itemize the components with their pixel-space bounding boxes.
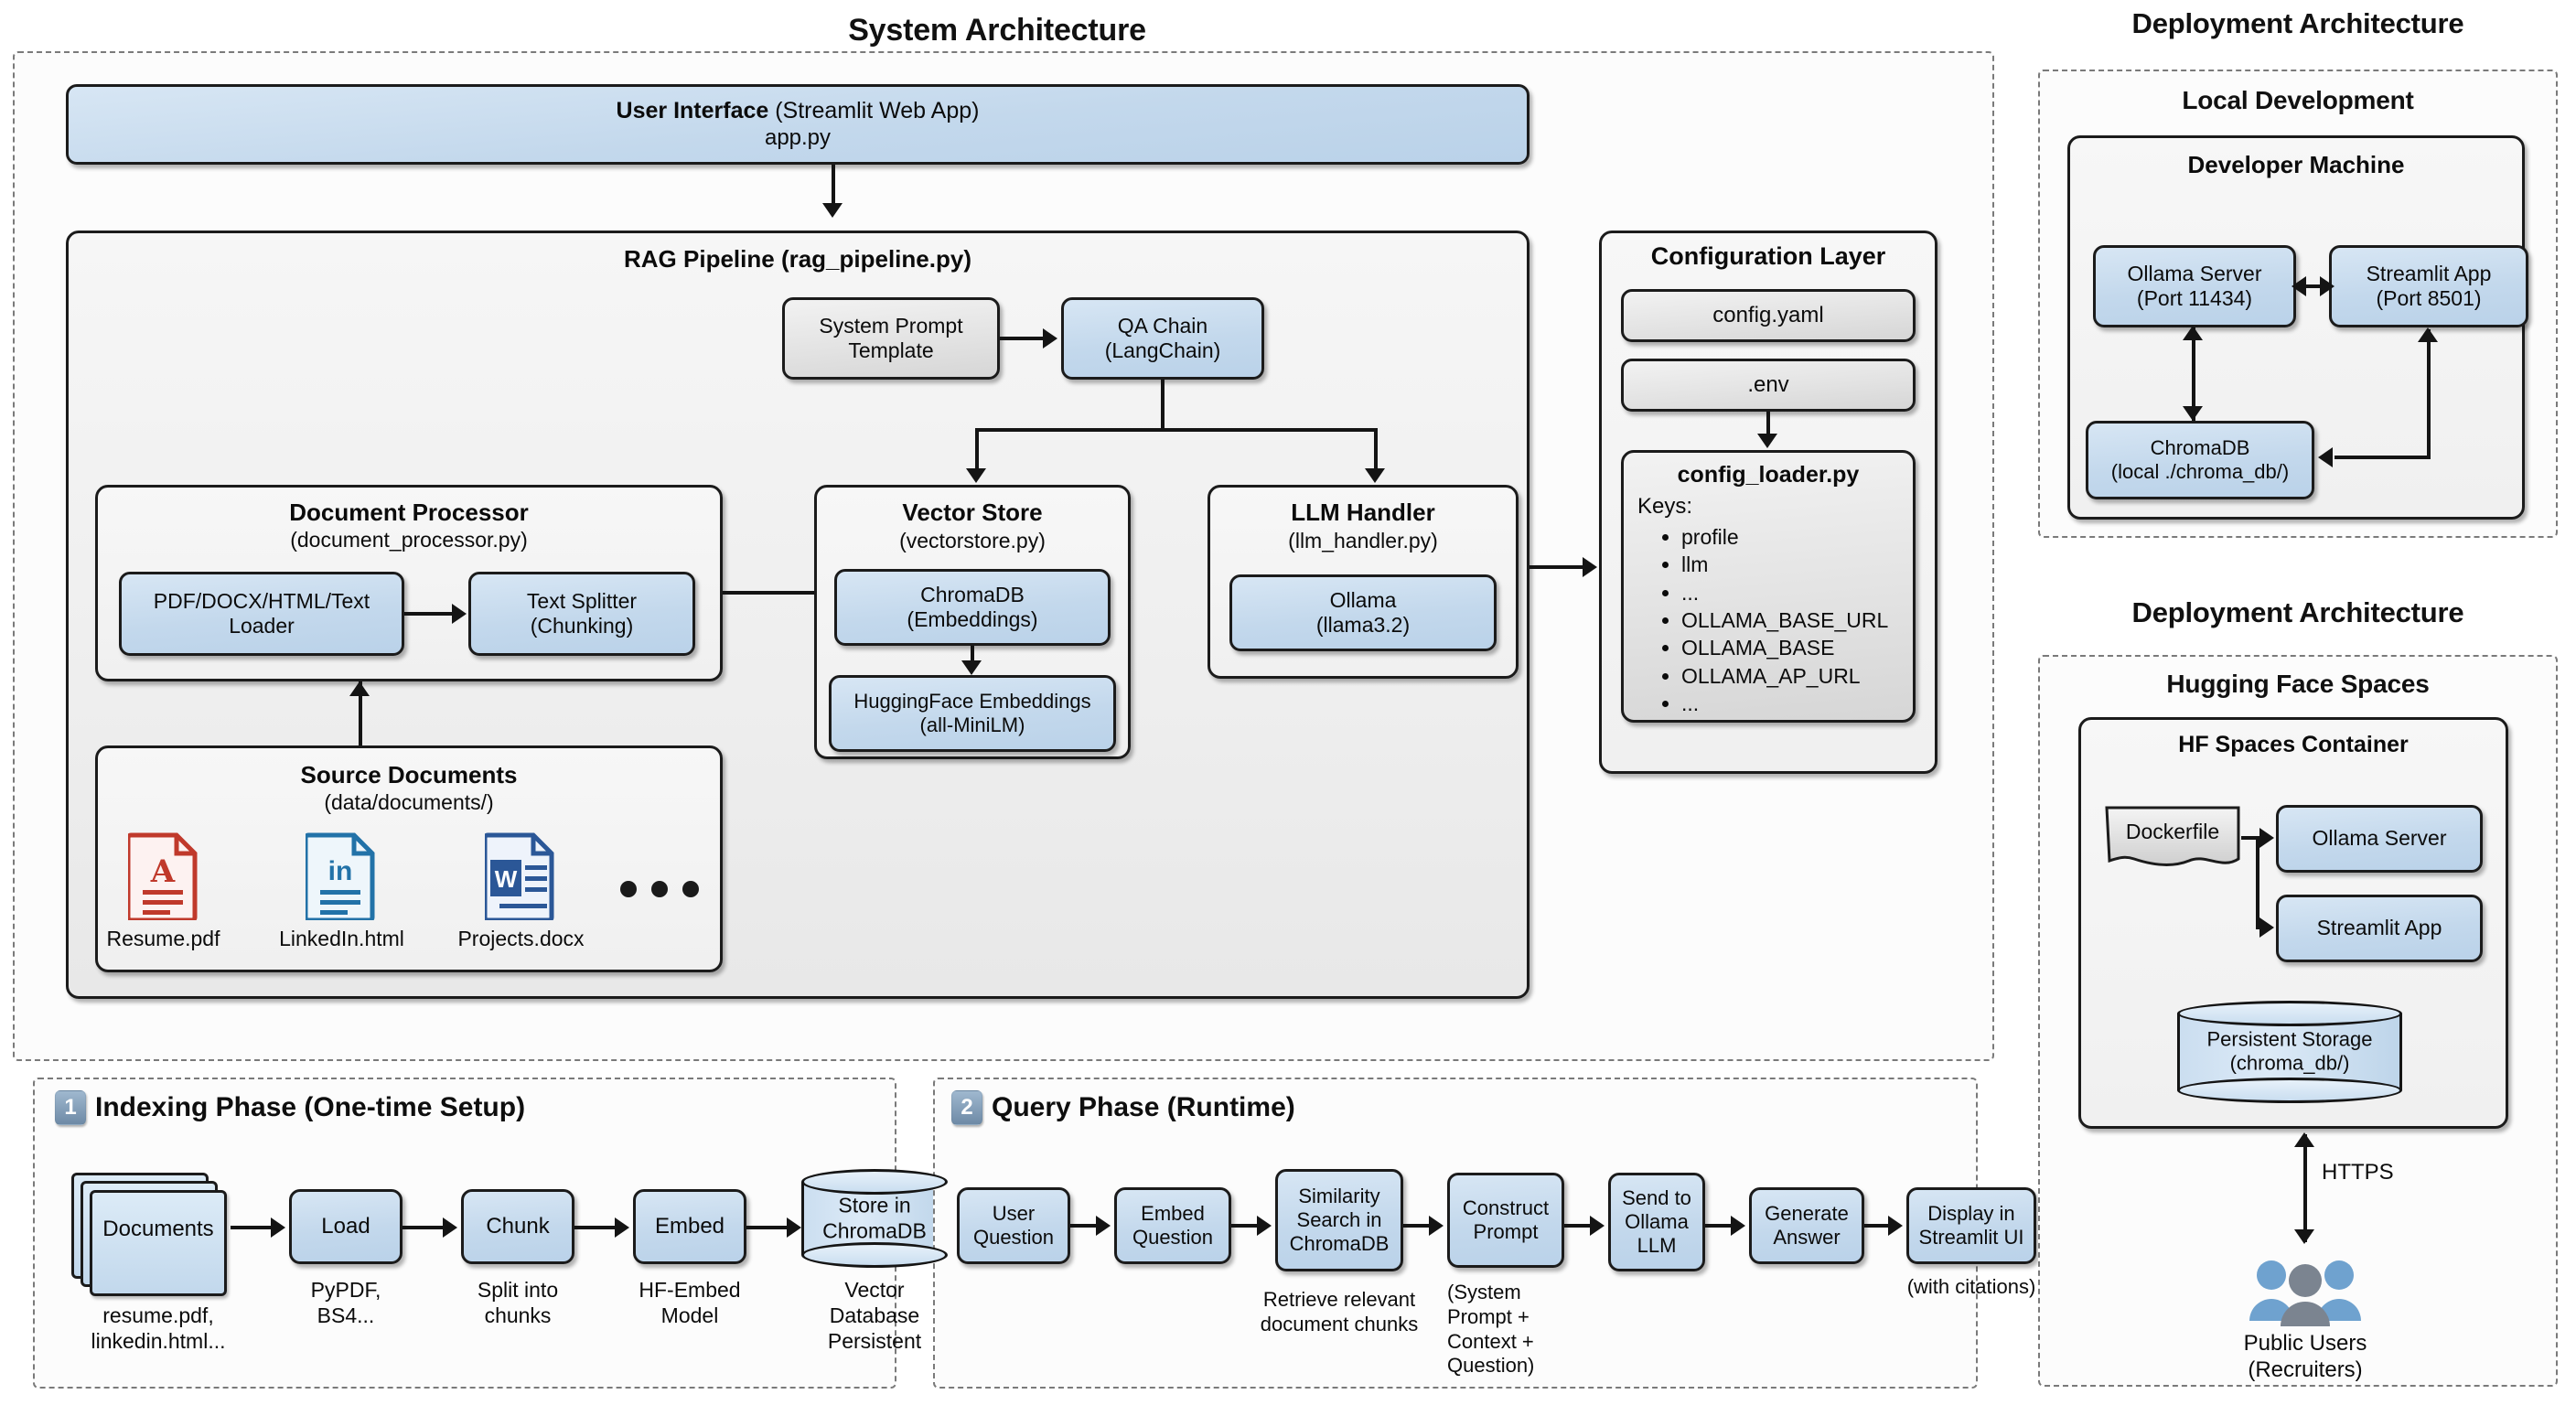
splitter-line2: (Chunking) (531, 614, 634, 638)
connector-to-llmhandler (1374, 428, 1378, 474)
user-interface-box[interactable]: User Interface (Streamlit Web App) app.p… (66, 84, 1529, 165)
persistent-storage-cylinder[interactable]: Persistent Storage (chroma_db/) (2177, 1001, 2402, 1103)
arrowhead-q0-q1 (1096, 1216, 1111, 1236)
chunk-step-box[interactable]: Chunk (461, 1189, 574, 1264)
connector-https (2303, 1134, 2307, 1242)
persistent-storage-label: Persistent Storage (chroma_db/) (2177, 1028, 2402, 1077)
rag-pipeline-title: RAG Pipeline (rag_pipeline.py) (66, 245, 1529, 273)
arrowhead-up-streamlit (2418, 327, 2438, 342)
arrowhead-q2-q3 (1429, 1216, 1444, 1236)
dockerfile-note[interactable]: Dockerfile (2104, 805, 2241, 874)
query-phase-title: Query Phase (Runtime) (992, 1092, 1295, 1123)
dockerfile-label: Dockerfile (2104, 820, 2241, 844)
hf-ollama-server-box[interactable]: Ollama Server (2276, 805, 2483, 873)
arrowhead-ollama-left (2292, 276, 2306, 296)
config-key-item: llm (1681, 551, 1914, 578)
connector-embed-to-store (746, 1226, 790, 1229)
hf-ollama-label: Ollama Server (2313, 826, 2447, 851)
local-chromadb-line2: (local ./chroma_db/) (2111, 460, 2289, 484)
local-ollama-line2: (Port 11434) (2137, 286, 2252, 311)
connector-loader-to-splitter (404, 612, 457, 616)
svg-text:A: A (150, 853, 176, 890)
llm-handler-sub: (llm_handler.py) (1207, 529, 1519, 553)
system-prompt-template-box[interactable]: System Prompt Template (782, 297, 1000, 380)
generate-answer-box[interactable]: Generate Answer (1749, 1187, 1864, 1264)
arrowhead-env-to-loader (1757, 434, 1777, 448)
connector-streamlit-to-chromadb (2334, 456, 2431, 459)
embed-step-label: Embed (655, 1214, 724, 1239)
arrowhead-down-chromadb (2183, 406, 2203, 421)
local-development-title: Local Development (2038, 86, 2558, 115)
chromadb-line1: ChromaDB (920, 583, 1025, 607)
config-key-item: ... (1681, 690, 1914, 717)
config-keys-list: profile llm ... OLLAMA_BASE_URL OLLAMA_B… (1658, 523, 1914, 718)
arrowhead-spt-to-qa (1043, 328, 1057, 349)
chromadb-box[interactable]: ChromaDB (Embeddings) (834, 569, 1111, 646)
query-phase-number-badge: 2 (951, 1090, 982, 1125)
loader-box[interactable]: PDF/DOCX/HTML/Text Loader (119, 572, 404, 656)
linkedin-file-icon: in (306, 832, 375, 920)
chunk-step-label: Chunk (486, 1214, 549, 1239)
connector-docker-vertical (2256, 836, 2259, 928)
send-to-ollama-label: Send to Ollama LLM (1622, 1186, 1691, 1258)
arrowhead-sourcedocs-to-docproc (349, 681, 370, 696)
construct-prompt-caption: (System Prompt + Context + Question) (1434, 1281, 1579, 1378)
ollama-line2: (llama3.2) (1316, 613, 1410, 638)
pdf-file-icon: A (128, 832, 198, 920)
user-interface-sub: app.py (765, 125, 831, 151)
svg-text:W: W (495, 865, 518, 893)
arrowhead-chunk-to-embed (615, 1217, 629, 1238)
chromadb-line2: (Embeddings) (907, 607, 1037, 632)
connector-spt-to-qa (1000, 337, 1047, 340)
vector-store-sub: (vectorstore.py) (814, 529, 1131, 553)
arrowhead-q4-q5 (1731, 1216, 1745, 1236)
arrowhead-to-chromadb (2318, 447, 2333, 467)
hf-streamlit-label: Streamlit App (2317, 916, 2442, 940)
persistent-storage-line2: (chroma_db/) (2177, 1052, 2402, 1076)
connector-to-vectorstore (975, 428, 979, 474)
config-keys-label: Keys: (1637, 494, 1692, 520)
vector-store-title: Vector Store (814, 499, 1131, 527)
local-ollama-server-box[interactable]: Ollama Server (Port 11434) (2093, 245, 2296, 327)
store-step-label: Store in ChromaDB (801, 1193, 948, 1243)
config-key-item: OLLAMA_BASE_URL (1681, 606, 1914, 634)
source-documents-title: Source Documents (95, 761, 723, 789)
connector-ui-to-rag (832, 165, 835, 209)
document-processor-sub: (document_processor.py) (95, 528, 723, 552)
arrowhead-documents-to-load (271, 1217, 285, 1238)
indexing-phase-number-badge: 1 (55, 1090, 86, 1125)
ollama-box[interactable]: Ollama (llama3.2) (1229, 574, 1497, 651)
config-key-item: OLLAMA_BASE (1681, 634, 1914, 661)
local-chromadb-box[interactable]: ChromaDB (local ./chroma_db/) (2086, 421, 2314, 499)
config-yaml-box[interactable]: config.yaml (1621, 289, 1916, 342)
embed-step-caption: HF-Embed Model (624, 1277, 756, 1328)
similarity-search-caption: Retrieve relevant document chunks (1229, 1288, 1449, 1337)
svg-text:in: in (328, 856, 353, 886)
arrowhead-docker-to-streamlit (2259, 917, 2274, 938)
arrowhead-to-llmhandler (1365, 468, 1385, 483)
connector-qa-down (1161, 380, 1165, 430)
qa-chain-box[interactable]: QA Chain (LangChain) (1061, 297, 1264, 380)
hf-line1: HuggingFace Embeddings (853, 690, 1090, 713)
indexing-phase-title: Indexing Phase (One-time Setup) (95, 1092, 525, 1123)
spt-line1: System Prompt (819, 314, 962, 338)
load-step-caption: PyPDF, BS4... (289, 1277, 402, 1328)
hf-streamlit-app-box[interactable]: Streamlit App (2276, 895, 2483, 962)
arrowhead-rag-to-config (1583, 557, 1597, 577)
similarity-search-box[interactable]: Similarity Search in ChromaDB (1275, 1169, 1403, 1271)
display-in-streamlit-caption: (with citations) (1890, 1275, 2053, 1300)
arrowhead-load-to-chunk (443, 1217, 457, 1238)
arrowhead-q5-q6 (1888, 1216, 1903, 1236)
display-in-streamlit-box[interactable]: Display in Streamlit UI (1906, 1187, 2036, 1264)
word-file-icon: W (485, 832, 554, 920)
deployment-architecture-title-1: Deployment Architecture (2033, 7, 2563, 40)
arrowhead-loader-to-splitter (452, 604, 467, 624)
documents-step-caption: resume.pdf, linkedin.html... (44, 1303, 273, 1354)
source-documents-sub: (data/documents/) (95, 790, 723, 815)
word-file-label: Projects.docx (441, 926, 601, 951)
hf-line2: (all-MiniLM) (920, 713, 1025, 737)
local-chromadb-line1: ChromaDB (2151, 436, 2250, 460)
splitter-line1: Text Splitter (527, 589, 637, 614)
embed-question-label: Embed Question (1132, 1202, 1213, 1249)
arrowhead-embed-to-store (787, 1217, 801, 1238)
config-key-item: profile (1681, 523, 1914, 551)
qa-line2: (LangChain) (1105, 338, 1221, 363)
deployment-architecture-title-2: Deployment Architecture (2033, 596, 2563, 629)
pdf-file-label: Resume.pdf (88, 926, 239, 951)
user-question-box[interactable]: User Question (957, 1187, 1070, 1264)
connector-streamlit-down (2427, 329, 2431, 457)
arrowhead-to-vectorstore (966, 468, 986, 483)
https-label: HTTPS (2322, 1160, 2394, 1185)
user-question-label: User Question (973, 1202, 1054, 1249)
persistent-storage-line1: Persistent Storage (2177, 1028, 2402, 1052)
env-label: .env (1747, 372, 1788, 398)
store-in-chromadb-cylinder[interactable]: Store in ChromaDB (801, 1169, 948, 1268)
connector-rag-to-config (1529, 565, 1590, 569)
spt-line2: Template (848, 338, 933, 363)
send-to-ollama-box[interactable]: Send to Ollama LLM (1608, 1173, 1705, 1271)
qa-line1: QA Chain (1118, 314, 1207, 338)
similarity-search-label: Similarity Search in ChromaDB (1290, 1185, 1390, 1256)
connector-load-to-chunk (402, 1226, 446, 1229)
hf-container-title: HF Spaces Container (2078, 732, 2508, 758)
embed-step-box[interactable]: Embed (633, 1189, 746, 1264)
arrowhead-q1-q2 (1257, 1216, 1272, 1236)
local-streamlit-app-box[interactable]: Streamlit App (Port 8501) (2329, 245, 2528, 327)
developer-machine-title: Developer Machine (2067, 151, 2525, 179)
linkedin-file-label: LinkedIn.html (262, 926, 422, 951)
user-interface-label: User Interface (Streamlit Web App) (617, 98, 980, 125)
display-in-streamlit-label: Display in Streamlit UI (1919, 1202, 2024, 1249)
text-splitter-box[interactable]: Text Splitter (Chunking) (468, 572, 695, 656)
arrowhead-chromadb-to-hf (961, 660, 982, 675)
document-processor-title: Document Processor (95, 499, 723, 527)
env-box[interactable]: .env (1621, 359, 1916, 412)
public-users-label: Public Users (Recruiters) (2195, 1330, 2415, 1384)
documents-step-label: Documents (90, 1217, 227, 1242)
arrowhead-up-ollama (2183, 326, 2203, 340)
llm-handler-title: LLM Handler (1207, 499, 1519, 527)
public-users-line2: (Recruiters) (2195, 1357, 2415, 1383)
config-key-item: ... (1681, 579, 1914, 606)
local-ollama-line1: Ollama Server (2128, 262, 2262, 286)
construct-prompt-box[interactable]: Construct Prompt (1447, 1173, 1564, 1268)
system-architecture-title: System Architecture (0, 13, 1994, 48)
arrowhead-https-down (2294, 1229, 2314, 1244)
arrowhead-ui-to-rag (822, 203, 843, 218)
hf-spaces-title: Hugging Face Spaces (2038, 670, 2558, 699)
connector-qa-split (975, 428, 1378, 432)
public-users-icon (2241, 1255, 2369, 1326)
arrowhead-q3-q4 (1590, 1216, 1605, 1236)
load-step-label: Load (321, 1214, 370, 1239)
hf-embeddings-box[interactable]: HuggingFace Embeddings (all-MiniLM) (829, 675, 1116, 752)
load-step-box[interactable]: Load (289, 1189, 402, 1264)
local-streamlit-line2: (Port 8501) (2376, 286, 2481, 311)
arrowhead-https-up (2294, 1132, 2314, 1147)
loader-line2: Loader (229, 614, 295, 638)
chunk-step-caption: Split into chunks (452, 1277, 584, 1328)
ollama-line1: Ollama (1330, 588, 1397, 613)
connector-documents-to-load (231, 1226, 274, 1229)
arrowhead-streamlit-right (2320, 276, 2334, 296)
generate-answer-label: Generate Answer (1765, 1202, 1849, 1249)
arrowhead-docker-to-ollama (2259, 828, 2274, 848)
more-files-dots (620, 881, 699, 897)
connector-chunk-to-embed (574, 1226, 618, 1229)
config-key-item: OLLAMA_AP_URL (1681, 662, 1914, 690)
store-step-caption: Vector Database Persistent (801, 1277, 948, 1354)
embed-question-box[interactable]: Embed Question (1114, 1187, 1231, 1264)
public-users-line1: Public Users (2195, 1330, 2415, 1357)
loader-line1: PDF/DOCX/HTML/Text (154, 589, 370, 614)
config-loader-title: config_loader.py (1621, 462, 1916, 488)
construct-prompt-label: Construct Prompt (1463, 1196, 1549, 1244)
local-streamlit-line1: Streamlit App (2367, 262, 2492, 286)
config-yaml-label: config.yaml (1712, 303, 1823, 328)
configuration-layer-title: Configuration Layer (1599, 242, 1937, 271)
